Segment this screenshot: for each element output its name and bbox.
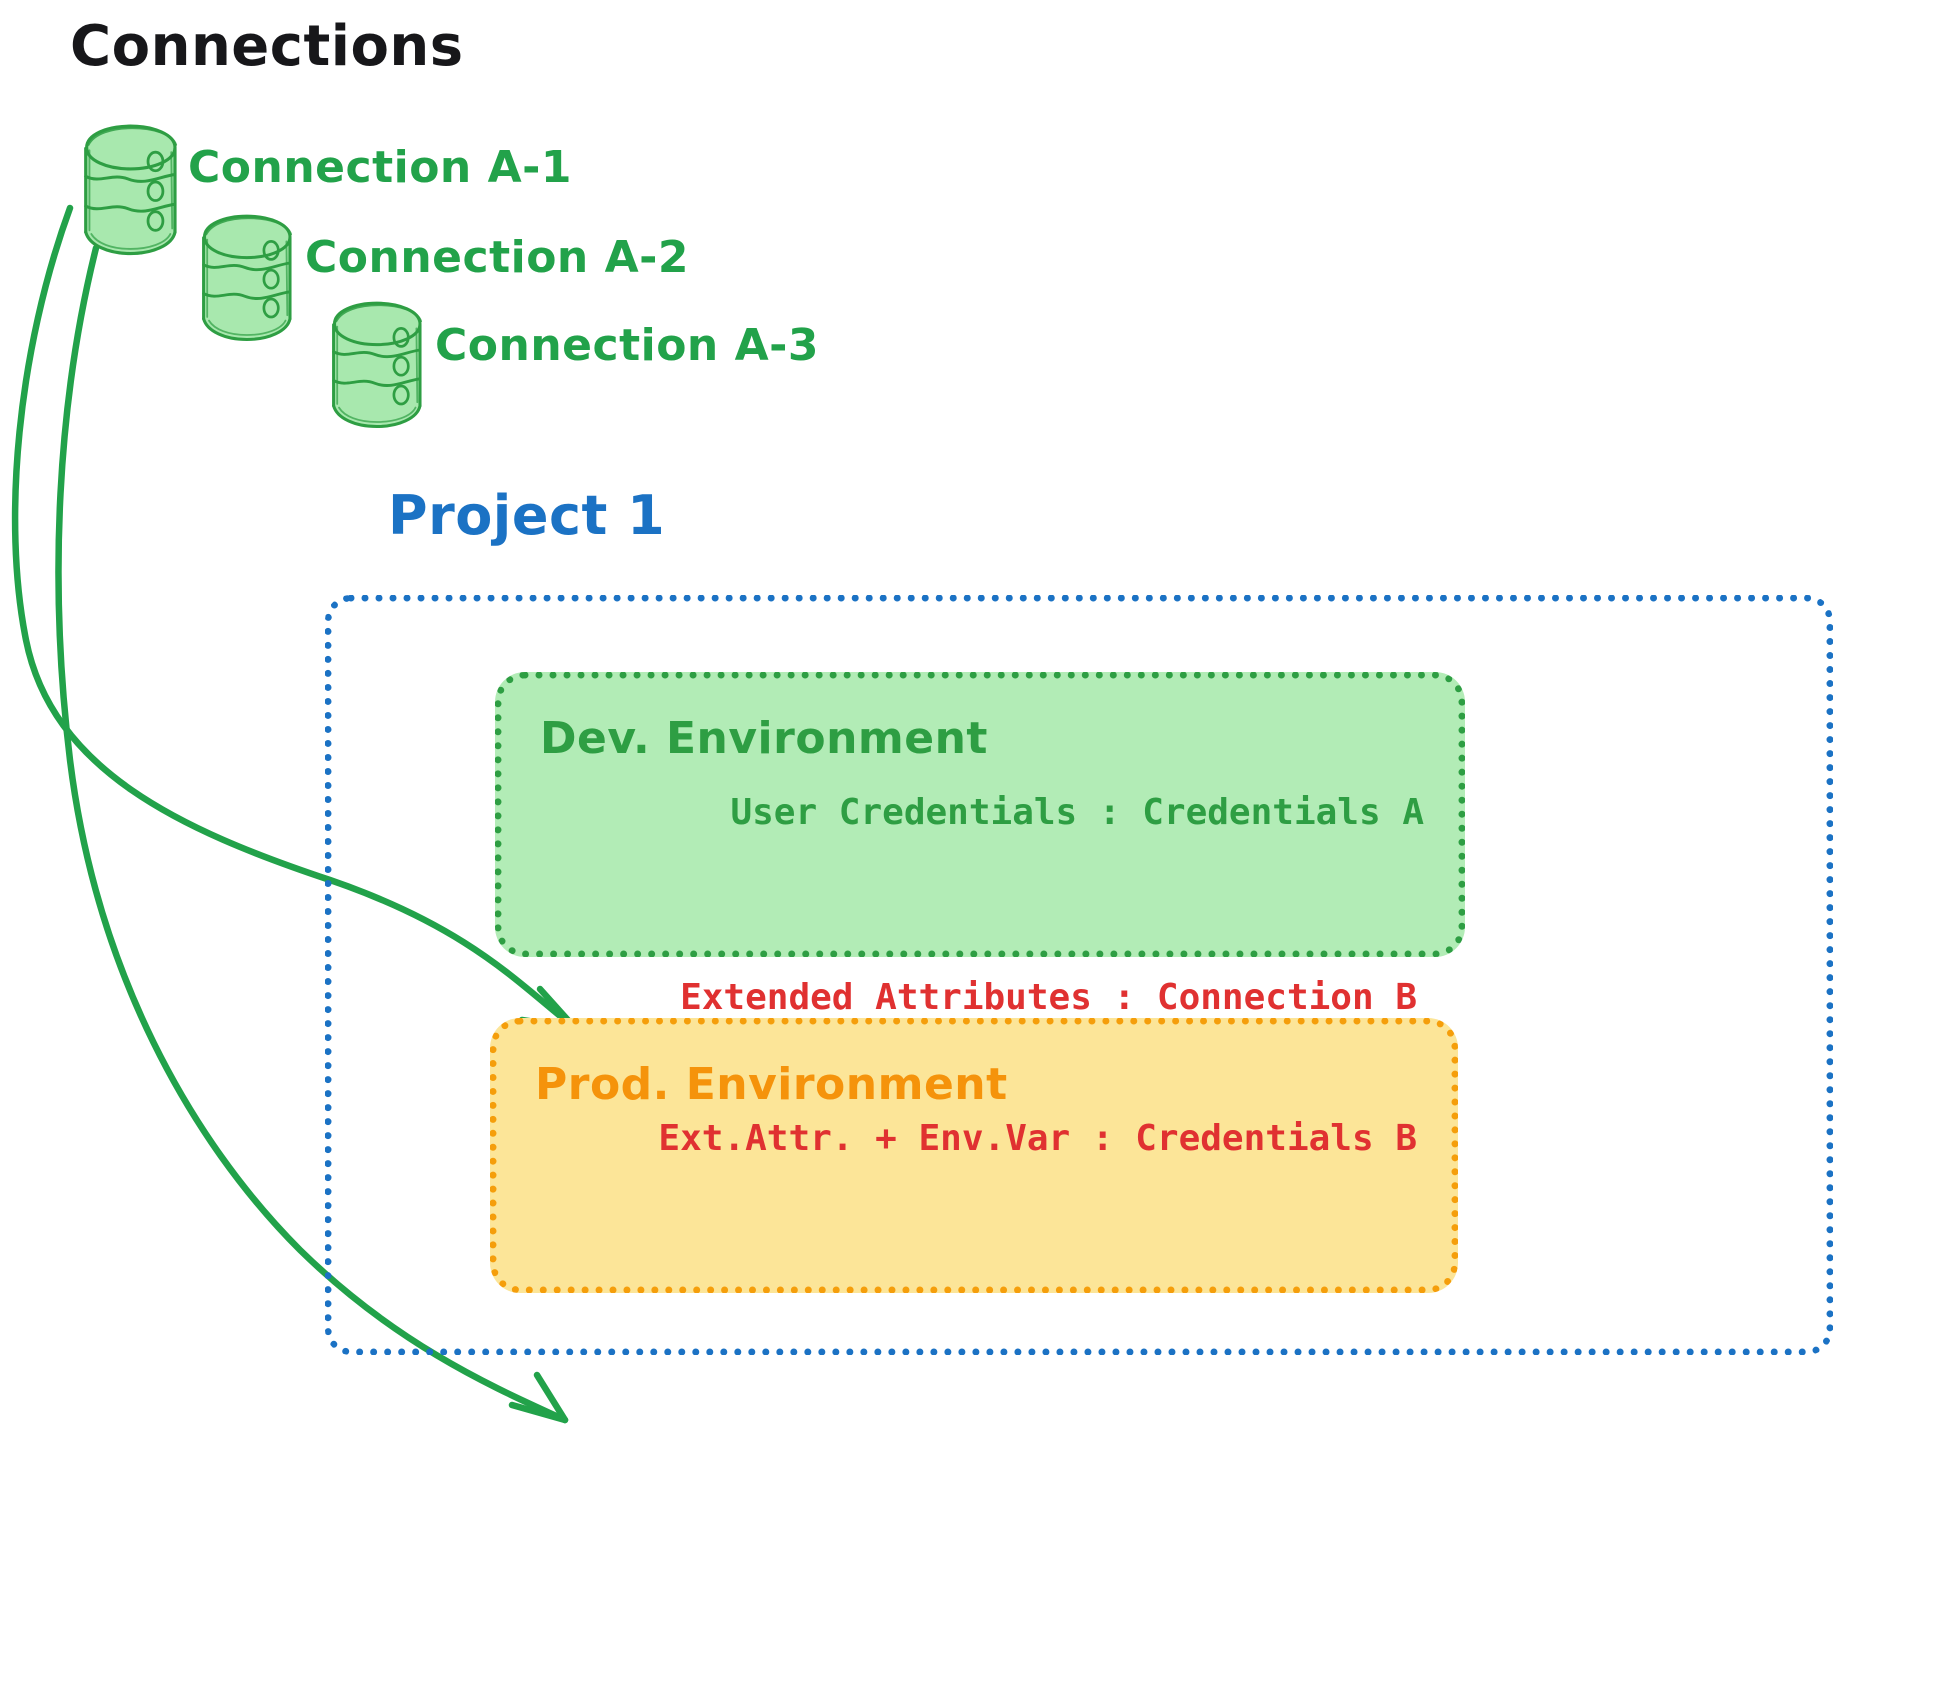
database-cylinder-icon-3[interactable]: [334, 303, 421, 427]
prod-detail-line-1: Extended Attributes : Connection B: [658, 975, 1417, 1022]
connections-heading: Connections: [70, 14, 464, 79]
dev-detail-line-1: User Credentials : Credentials A: [730, 790, 1424, 836]
connection-label-a2: Connection A-2: [305, 232, 689, 283]
prod-environment-card[interactable]: Prod. Environment Extended Attributes : …: [490, 1018, 1458, 1293]
connection-label-a3: Connection A-3: [435, 320, 819, 371]
project-title: Project 1: [388, 484, 665, 547]
diagram-canvas: Connections Connection A-1 Connection A-…: [0, 0, 1938, 1691]
connection-label-a1: Connection A-1: [188, 142, 572, 193]
prod-detail-line-2: Ext.Attr. + Env.Var : Credentials B: [658, 1116, 1417, 1163]
prod-environment-details: Extended Attributes : Connection B Ext.A…: [658, 882, 1417, 1256]
database-cylinder-icon-1[interactable]: [86, 126, 176, 254]
database-cylinder-icon-2[interactable]: [204, 216, 291, 340]
